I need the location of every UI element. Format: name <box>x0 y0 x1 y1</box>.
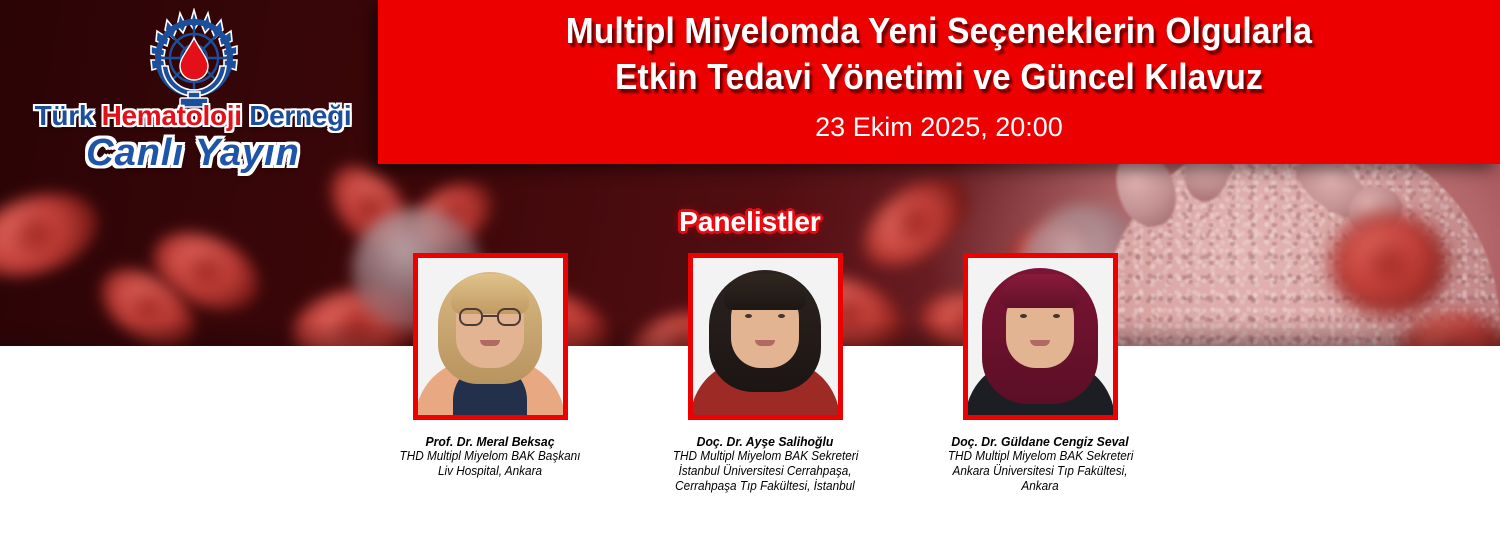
panelist-photo-frame <box>413 253 568 420</box>
panelist-photo-frame <box>963 253 1118 420</box>
portrait-hair-front <box>1000 274 1080 308</box>
panelist-name: Doç. Dr. Ayşe Salihoğlu <box>673 434 857 449</box>
panelist-portrait <box>968 258 1113 415</box>
portrait-mouth <box>1030 340 1050 346</box>
org-name-suffix: Derneği <box>242 100 352 131</box>
panelist-affiliation-line: THD Multipl Miyelom BAK Sekreteri <box>948 449 1132 464</box>
panelists-heading: Panelistler <box>0 206 1500 238</box>
panelist-affiliation-line: Cerrahpaşa Tıp Fakültesi, İstanbul <box>673 479 857 494</box>
portrait-eye <box>1020 314 1027 318</box>
portrait-eye <box>745 314 752 318</box>
panelist-affiliation-line: Ankara <box>948 479 1132 494</box>
panelist-affiliation-line: Liv Hospital, Ankara <box>398 464 582 479</box>
event-title-line-2: Etkin Tedavi Yönetimi ve Güncel Kılavuz <box>417 54 1460 100</box>
panelist-name: Doç. Dr. Güldane Cengiz Seval <box>948 434 1132 449</box>
panelist-name: Prof. Dr. Meral Beksaç <box>398 434 582 449</box>
event-title-box: Multipl Miyelomda Yeni Seçeneklerin Olgu… <box>378 0 1500 164</box>
panelist-affiliation-line: İstanbul Üniversitesi Cerrahpaşa, <box>673 464 857 479</box>
organization-name: Türk Hematoloji Derneği <box>28 100 358 132</box>
thd-emblem-icon: 1967 <box>140 8 248 108</box>
org-name-highlight: Hematoloji <box>102 100 242 131</box>
portrait-eye <box>1053 314 1060 318</box>
event-title: Multipl Miyelomda Yeni Seçeneklerin Olgu… <box>378 8 1500 100</box>
panelist-photo-frame <box>688 253 843 420</box>
panelist-card: Doç. Dr. Güldane Cengiz Seval THD Multip… <box>942 253 1138 494</box>
panelist-info: Prof. Dr. Meral Beksaç THD Multipl Miyel… <box>392 434 588 479</box>
panelist-card: Prof. Dr. Meral Beksaç THD Multipl Miyel… <box>392 253 588 479</box>
portrait-eye <box>778 314 785 318</box>
org-name-prefix: Türk <box>35 100 102 131</box>
portrait-mouth <box>480 340 500 346</box>
portrait-mouth <box>755 340 775 346</box>
thd-logo: 1967 Türk Hematoloji Derneği Canlı Yayın <box>28 4 358 184</box>
panelist-affiliation-line: THD Multipl Miyelom BAK Başkanı <box>398 449 582 464</box>
webinar-announcement-banner: 1967 Türk Hematoloji Derneği Canlı Yayın… <box>0 0 1500 550</box>
live-broadcast-label: Canlı Yayın <box>28 132 358 175</box>
panelist-portrait <box>418 258 563 415</box>
event-title-line-1: Multipl Miyelomda Yeni Seçeneklerin Olgu… <box>417 8 1460 54</box>
panelist-card: Doç. Dr. Ayşe Salihoğlu THD Multipl Miye… <box>667 253 863 494</box>
panelist-affiliation-line: THD Multipl Miyelom BAK Sekreteri <box>673 449 857 464</box>
portrait-hair-front <box>724 274 806 310</box>
blood-drop-icon <box>180 38 208 80</box>
event-date: 23 Ekim 2025, 20:00 <box>378 112 1500 143</box>
panelist-info: Doç. Dr. Ayşe Salihoğlu THD Multipl Miye… <box>667 434 863 494</box>
panelist-info: Doç. Dr. Güldane Cengiz Seval THD Multip… <box>942 434 1138 494</box>
panelist-affiliation-line: Ankara Üniversitesi Tıp Fakültesi, <box>948 464 1132 479</box>
eyeglasses-icon <box>459 308 521 326</box>
panelist-portrait <box>693 258 838 415</box>
